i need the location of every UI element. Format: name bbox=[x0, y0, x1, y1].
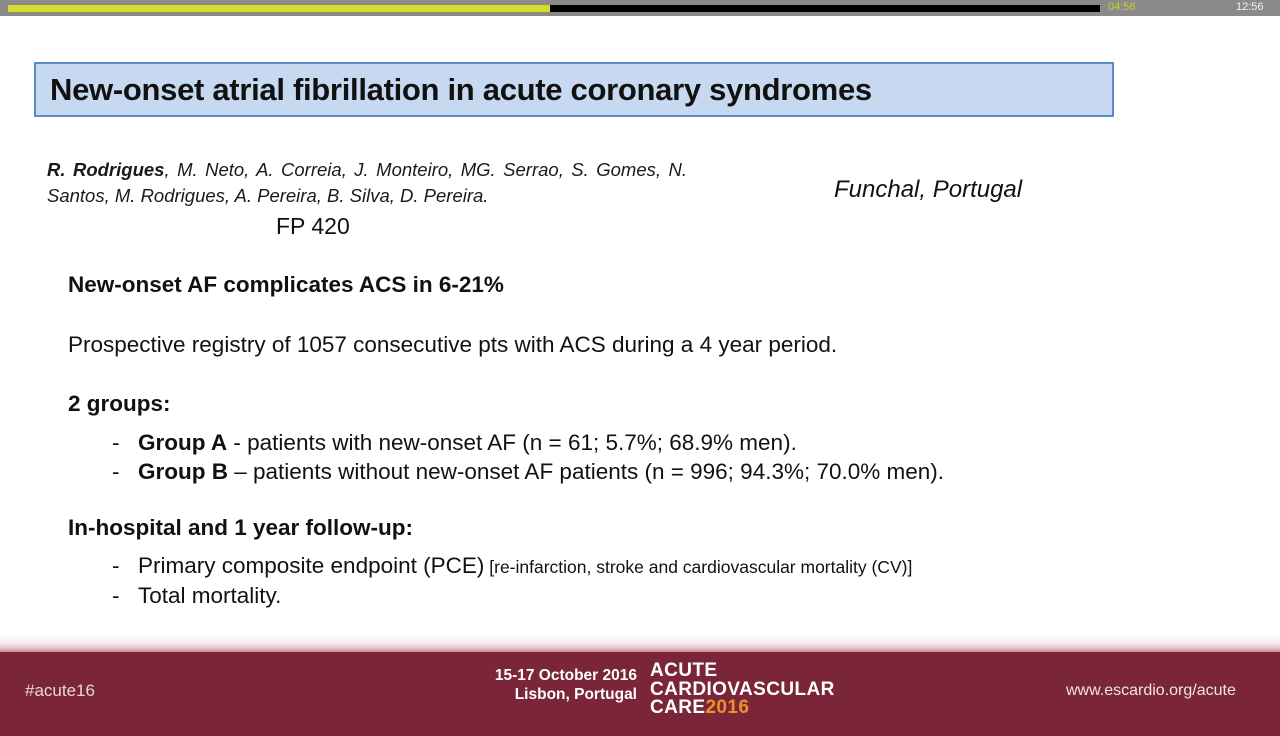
logo-line-acute: ACUTE bbox=[650, 662, 835, 681]
bullet-dash: - bbox=[112, 551, 138, 581]
bullet-dash: - bbox=[112, 581, 138, 611]
page-title: New-onset atrial fibrillation in acute c… bbox=[36, 72, 872, 108]
video-player-bar: 04:58 12:56 bbox=[0, 0, 1280, 16]
list-item: -Group A - patients with new-onset AF (n… bbox=[68, 428, 1228, 458]
slide-title-banner: New-onset atrial fibrillation in acute c… bbox=[34, 62, 1114, 117]
logo-line-care: CARE2016 bbox=[650, 699, 835, 718]
group-a-description: - patients with new-onset AF (n = 61; 5.… bbox=[227, 430, 797, 455]
total-duration-label: 12:56 bbox=[1236, 1, 1264, 13]
group-b-label: Group B bbox=[138, 459, 228, 484]
hashtag-label: #acute16 bbox=[25, 681, 95, 701]
total-mortality-label: Total mortality. bbox=[138, 583, 281, 608]
followup-heading: In-hospital and 1 year follow-up: bbox=[68, 517, 1228, 540]
list-item: -Primary composite endpoint (PCE) [re-in… bbox=[68, 551, 1228, 581]
slide-body: New-onset AF complicates ACS in 6-21% Pr… bbox=[68, 274, 1228, 611]
footer-gradient-divider bbox=[0, 634, 1280, 652]
venue-label: Funchal, Portugal bbox=[834, 176, 1022, 204]
groups-heading: 2 groups: bbox=[68, 393, 1228, 416]
elapsed-time-label: 04:58 bbox=[1108, 1, 1136, 13]
bullet-dash: - bbox=[112, 428, 138, 458]
author-list: R. Rodrigues, M. Neto, A. Correia, J. Mo… bbox=[47, 157, 687, 210]
group-a-label: Group A bbox=[138, 430, 227, 455]
progress-bar-fill[interactable] bbox=[8, 5, 550, 12]
primary-endpoint-label: Primary composite endpoint (PCE) bbox=[138, 553, 484, 578]
list-item: -Group B – patients without new-onset AF… bbox=[68, 457, 1228, 487]
abstract-code: FP 420 bbox=[276, 213, 350, 240]
progress-bar-track[interactable] bbox=[8, 5, 1100, 12]
presentation-slide: New-onset atrial fibrillation in acute c… bbox=[0, 16, 1280, 720]
prevalence-heading: New-onset AF complicates ACS in 6-21% bbox=[68, 274, 1228, 297]
spacer bbox=[68, 539, 1228, 551]
registry-description: Prospective registry of 1057 consecutive… bbox=[68, 334, 1228, 357]
website-url[interactable]: www.escardio.org/acute bbox=[1066, 682, 1236, 700]
spacer bbox=[68, 356, 1228, 393]
event-dates: 15-17 October 2016 bbox=[455, 666, 637, 685]
primary-endpoint-note: [re-infarction, stroke and cardiovascula… bbox=[484, 557, 912, 577]
spacer bbox=[68, 487, 1228, 517]
list-item: -Total mortality. bbox=[68, 581, 1228, 611]
presenting-author: R. Rodrigues bbox=[47, 159, 164, 180]
bullet-dash: - bbox=[112, 457, 138, 487]
logo-year: 2016 bbox=[705, 697, 749, 718]
group-b-description: – patients without new-onset AF patients… bbox=[228, 459, 944, 484]
event-info: 15-17 October 2016 Lisbon, Portugal bbox=[455, 666, 637, 705]
conference-logo: ACUTE CARDIOVASCULAR CARE2016 bbox=[650, 662, 835, 718]
conference-footer: #acute16 15-17 October 2016 Lisbon, Port… bbox=[0, 652, 1280, 736]
event-city: Lisbon, Portugal bbox=[455, 685, 637, 704]
logo-care-text: CARE bbox=[650, 697, 705, 718]
spacer bbox=[68, 416, 1228, 428]
spacer bbox=[68, 297, 1228, 334]
